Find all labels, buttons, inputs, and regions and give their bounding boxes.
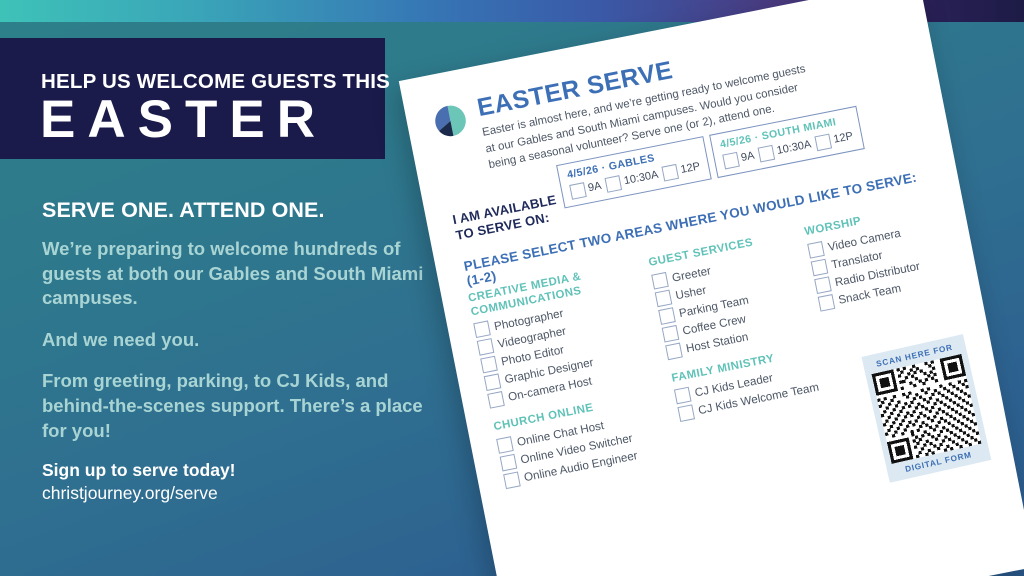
checkbox-icon[interactable] xyxy=(815,133,833,151)
checkbox-icon[interactable] xyxy=(569,182,587,200)
column-two: GUEST SERVICES Greeter Usher Parking Tea… xyxy=(648,229,830,456)
time-option[interactable]: 9A xyxy=(569,179,603,200)
time-label: 9A xyxy=(740,150,756,164)
time-label: 9A xyxy=(587,180,603,194)
checkbox-icon[interactable] xyxy=(722,151,740,169)
option-label: Usher xyxy=(674,283,707,302)
checkbox-icon[interactable] xyxy=(500,454,518,472)
checkbox-icon[interactable] xyxy=(605,175,623,193)
checkbox-icon[interactable] xyxy=(677,405,695,423)
promo-paragraph-3: From greeting, parking, to CJ Kids, and … xyxy=(42,369,438,443)
signup-url[interactable]: christjourney.org/serve xyxy=(42,483,442,504)
checkbox-icon[interactable] xyxy=(496,436,514,454)
promo-copy-block: SERVE ONE. ATTEND ONE. We’re preparing t… xyxy=(42,198,442,504)
column-one: CREATIVE MEDIA & COMMUNICATIONS Photogra… xyxy=(467,260,673,492)
checkbox-icon[interactable] xyxy=(662,325,680,343)
checkbox-icon[interactable] xyxy=(814,276,832,294)
time-label: 12P xyxy=(680,161,702,177)
checkbox-icon[interactable] xyxy=(473,321,491,339)
easter-serve-form: EASTER SERVE Easter is almost here, and … xyxy=(399,0,1024,576)
promo-paragraph-2: And we need you. xyxy=(42,328,438,353)
checkbox-icon[interactable] xyxy=(655,289,673,307)
checkbox-icon[interactable] xyxy=(665,342,683,360)
signup-label: Sign up to serve today! xyxy=(42,460,442,481)
checkbox-icon[interactable] xyxy=(484,374,502,392)
church-logo-icon xyxy=(430,101,470,141)
checkbox-icon[interactable] xyxy=(651,272,669,290)
promo-subhead: SERVE ONE. ATTEND ONE. xyxy=(42,198,442,223)
checkbox-icon[interactable] xyxy=(674,387,692,405)
checkbox-icon[interactable] xyxy=(503,472,521,490)
checkbox-icon[interactable] xyxy=(807,241,825,259)
time-label: 12P xyxy=(833,130,855,146)
checkbox-icon[interactable] xyxy=(662,163,680,181)
checkbox-icon[interactable] xyxy=(758,144,776,162)
time-option[interactable]: 12P xyxy=(815,129,855,151)
checkbox-icon[interactable] xyxy=(477,339,495,357)
promo-headline: EASTER xyxy=(40,92,327,148)
checkbox-icon[interactable] xyxy=(487,392,505,410)
promo-paragraph-1: We’re preparing to welcome hundreds of g… xyxy=(42,237,438,311)
checkbox-icon[interactable] xyxy=(810,259,828,277)
qr-code-icon[interactable] xyxy=(872,354,982,464)
time-label: 10:30A xyxy=(776,138,813,157)
time-label: 10:30A xyxy=(623,169,660,188)
checkbox-icon[interactable] xyxy=(817,294,835,312)
checkbox-icon[interactable] xyxy=(658,307,676,325)
time-option[interactable]: 9A xyxy=(722,148,756,169)
checkbox-icon[interactable] xyxy=(480,356,498,374)
qr-code-block[interactable]: SCAN HERE FOR xyxy=(861,334,991,483)
time-option[interactable]: 12P xyxy=(662,159,702,181)
